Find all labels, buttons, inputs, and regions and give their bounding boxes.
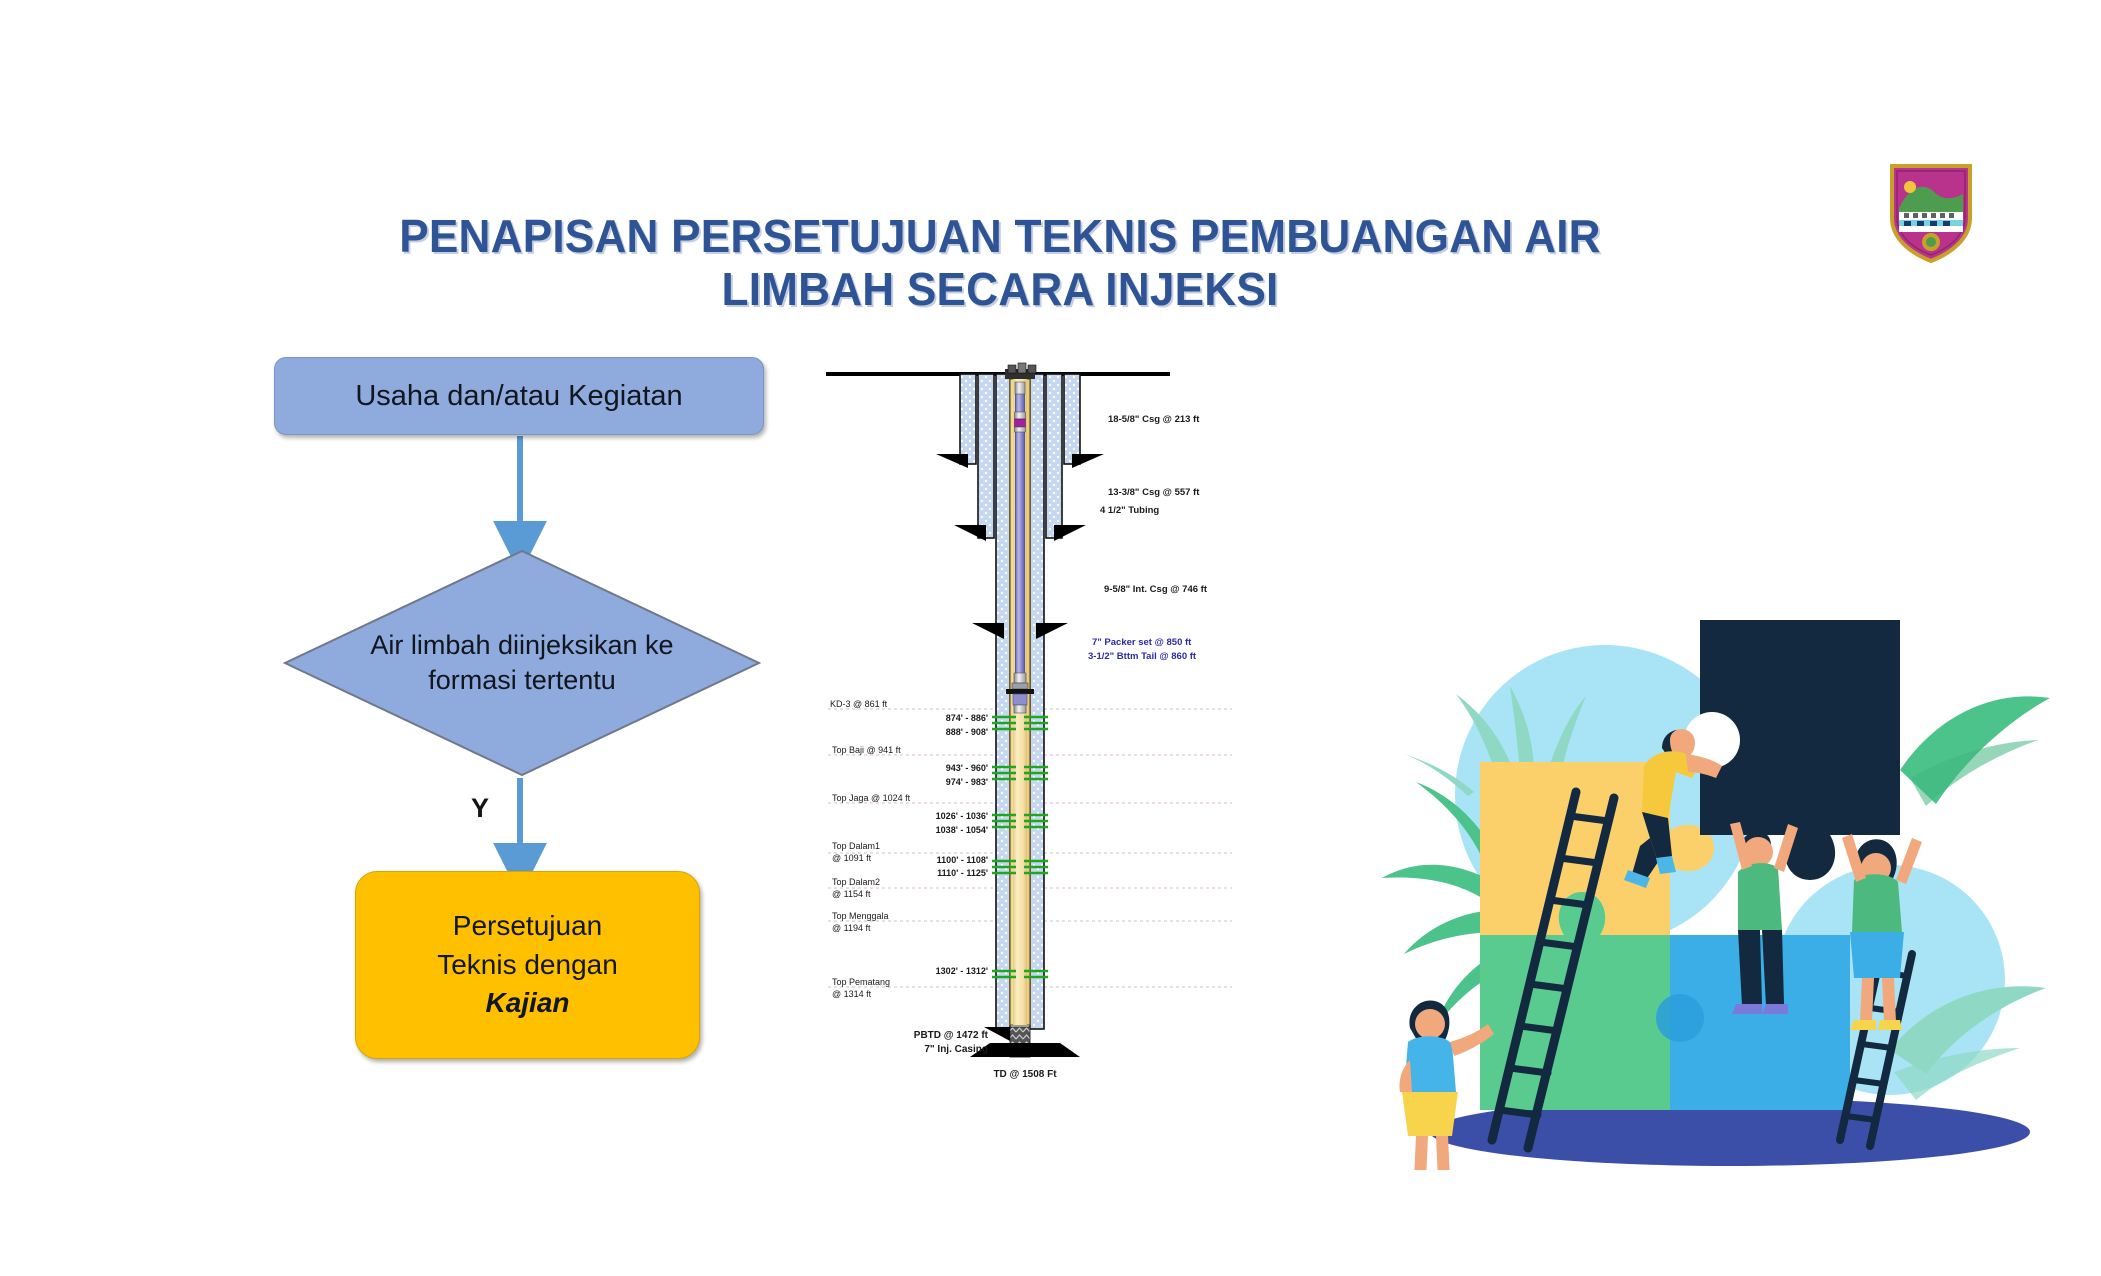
teamwork-puzzle-illustration	[1370, 580, 2090, 1170]
label-csg-13: 13-3/8" Csg @ 557 ft	[1108, 487, 1200, 498]
leaf-right-top	[1900, 696, 2050, 806]
shield-icon	[1886, 160, 1976, 265]
perf-7: 1100' - 1108'	[937, 855, 988, 865]
regional-emblem-logo	[1886, 160, 1976, 265]
label-top-dalam1: Top Dalam1	[832, 841, 880, 851]
label-td: TD @ 1508 Ft	[993, 1069, 1057, 1080]
tubing-4-5in	[1016, 391, 1025, 681]
label-top-pematang: Top Pematang	[832, 977, 890, 987]
injection-well-schematic: 18-5/8" Csg @ 213 ft 13-3/8" Csg @ 557 f…	[820, 355, 1240, 1085]
slide-canvas: PENAPISAN PERSETUJUAN TEKNIS PEMBUANGAN …	[0, 0, 2101, 1276]
label-top-baji: Top Baji @ 941 ft	[832, 745, 901, 755]
perf-2: 888' - 908'	[946, 727, 988, 737]
label-top-menggala: Top Menggala	[832, 911, 889, 921]
label-packer: 7" Packer set @ 850 ft	[1092, 637, 1192, 648]
node-decision-shape[interactable]	[282, 548, 762, 778]
perf-8: 1110' - 1125'	[937, 868, 988, 878]
perf-9: 1302' - 1312'	[936, 966, 988, 976]
branch-label-yes: Y	[455, 793, 505, 824]
label-inj-csg: 7" Inj. Casing	[924, 1044, 988, 1055]
label-top-pematang-d: @ 1314 ft	[832, 989, 872, 999]
wellhead	[1005, 363, 1036, 379]
label-tubing: 4 1/2" Tubing	[1100, 505, 1159, 516]
tubing-accessory	[1015, 419, 1026, 427]
perf-3: 943' - 960'	[946, 763, 988, 773]
perf-6: 1038' - 1054'	[936, 825, 988, 835]
label-top-dalam2: Top Dalam2	[832, 877, 880, 887]
label-top-dalam2-d: @ 1154 ft	[832, 889, 871, 899]
label-top-kd3: KD-3 @ 861 ft	[830, 699, 888, 709]
label-bttm-tail: 3-1/2" Bttm Tail @ 860 ft	[1088, 651, 1197, 662]
perf-4: 974' - 983'	[946, 777, 988, 787]
label-top-menggala-d: @ 1194 ft	[832, 923, 871, 933]
node-persetujuan-teknis[interactable]	[355, 871, 700, 1059]
perf-5: 1026' - 1036'	[936, 811, 988, 821]
node-usaha-kegiatan[interactable]	[274, 357, 764, 435]
label-csg-9: 9-5/8" Int. Csg @ 746 ft	[1104, 584, 1208, 595]
label-pbtd: PBTD @ 1472 ft	[914, 1030, 989, 1041]
label-csg-18: 18-5/8" Csg @ 213 ft	[1108, 414, 1200, 425]
label-top-dalam1-d: @ 1091 ft	[832, 853, 872, 863]
flowchart: Usaha dan/atau Kegiatan Air limbah diinj…	[0, 0, 820, 1276]
label-top-jaga: Top Jaga @ 1024 ft	[832, 793, 911, 803]
perf-1: 874' - 886'	[946, 713, 988, 723]
